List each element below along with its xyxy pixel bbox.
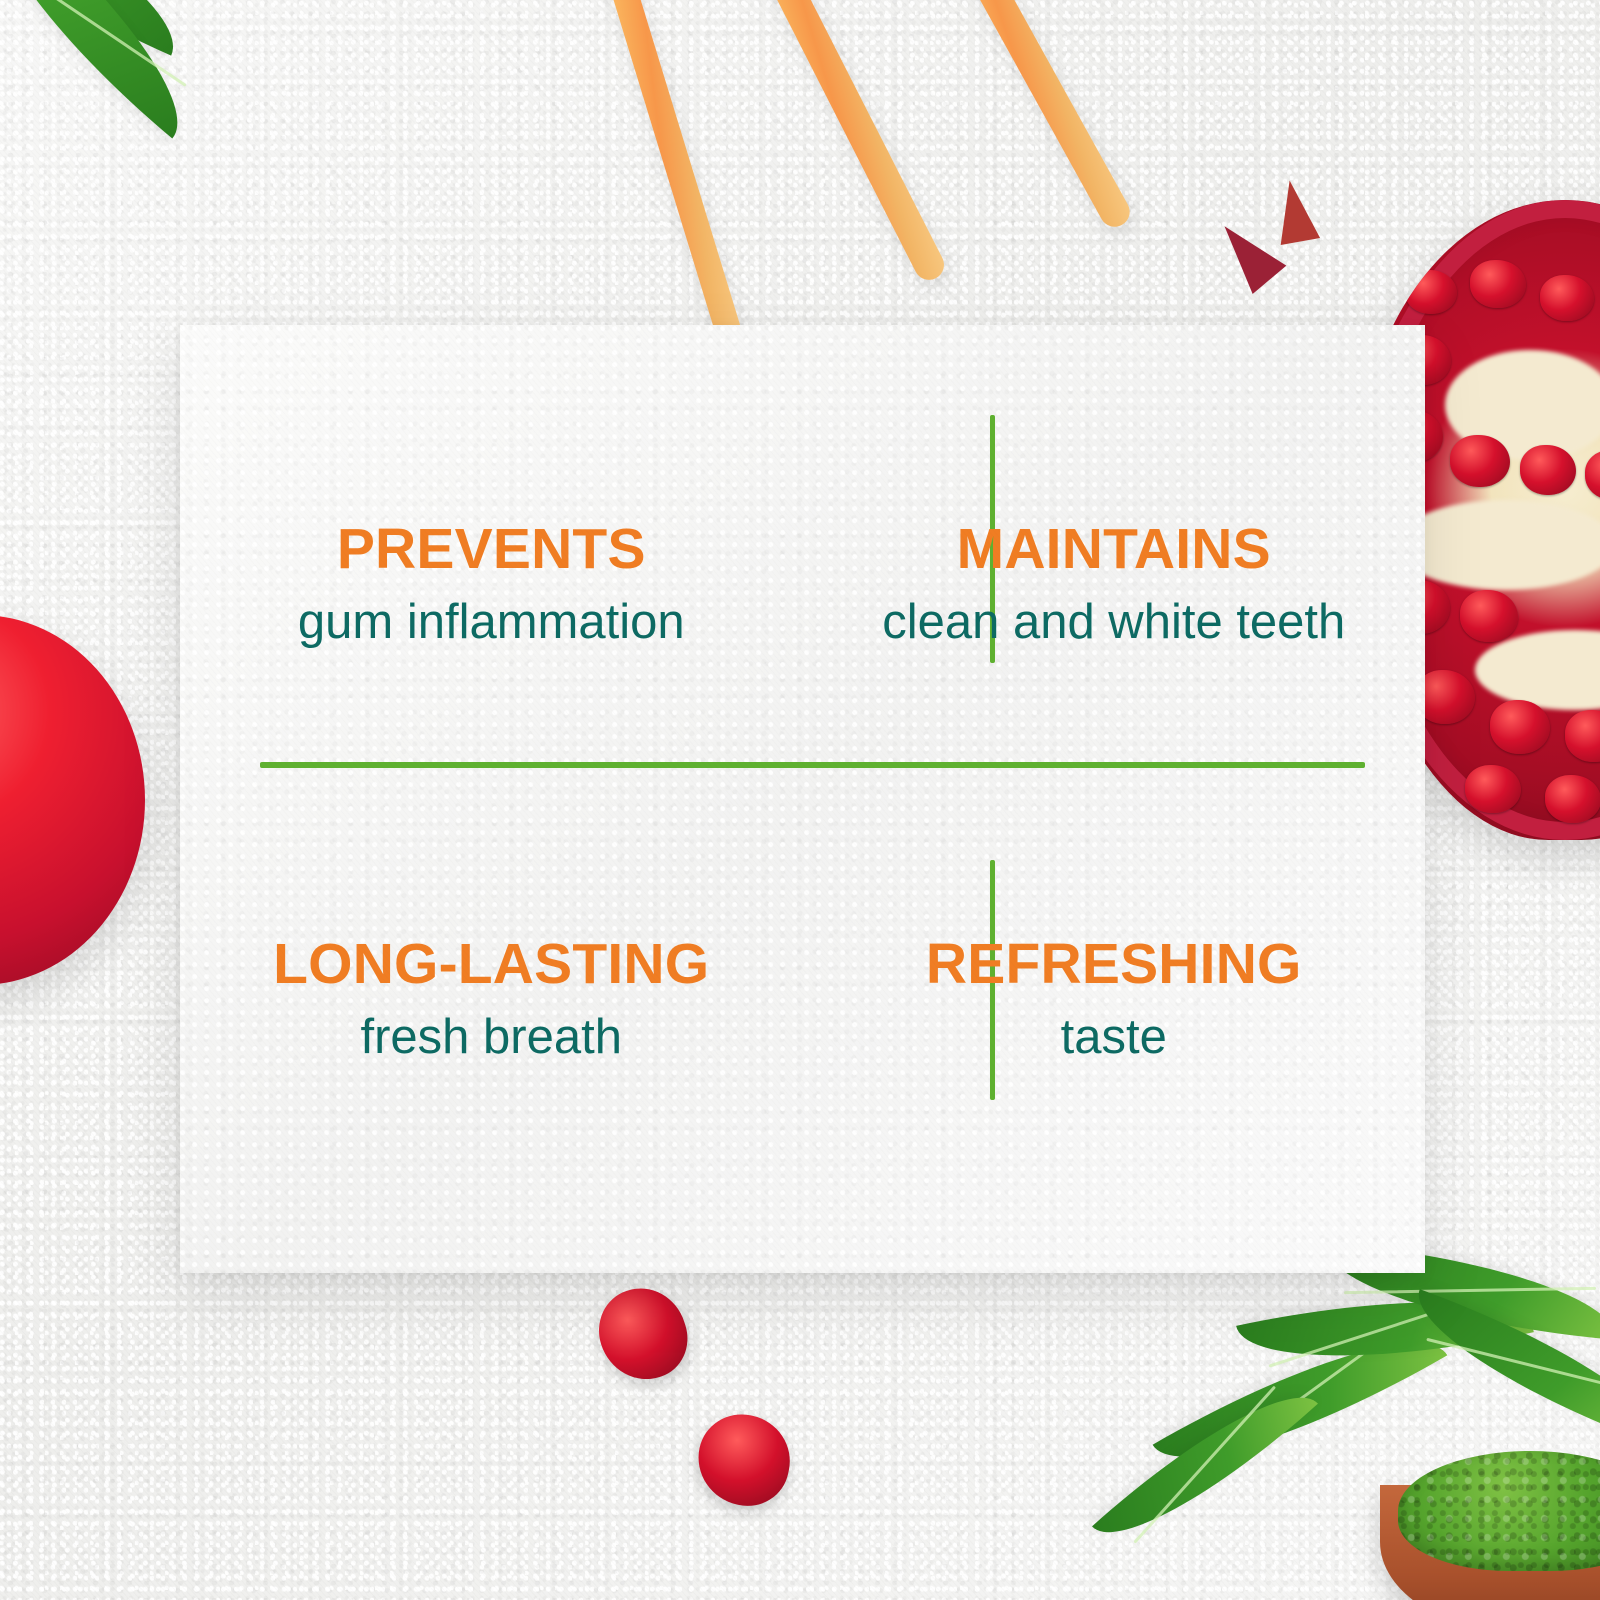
benefit-item-refreshing: REFRESHING taste xyxy=(803,799,1426,1273)
benefit-kicker: MAINTAINS xyxy=(957,520,1271,580)
benefit-item-prevents: PREVENTS gum inflammation xyxy=(180,325,803,799)
benefits-grid: PREVENTS gum inflammation MAINTAINS clea… xyxy=(180,325,1425,1273)
benefits-card: PREVENTS gum inflammation MAINTAINS clea… xyxy=(180,325,1425,1273)
benefit-item-maintains: MAINTAINS clean and white teeth xyxy=(803,325,1426,799)
benefit-kicker: REFRESHING xyxy=(926,935,1302,995)
benefit-item-long-lasting: LONG-LASTING fresh breath xyxy=(180,799,803,1273)
promo-graphic: PREVENTS gum inflammation MAINTAINS clea… xyxy=(0,0,1600,1600)
benefit-subtitle: clean and white teeth xyxy=(882,595,1345,650)
benefit-kicker: LONG-LASTING xyxy=(273,935,709,995)
benefit-kicker: PREVENTS xyxy=(337,520,646,580)
benefit-subtitle: taste xyxy=(1061,1010,1167,1065)
benefit-subtitle: gum inflammation xyxy=(298,595,685,650)
benefit-subtitle: fresh breath xyxy=(361,1010,623,1065)
